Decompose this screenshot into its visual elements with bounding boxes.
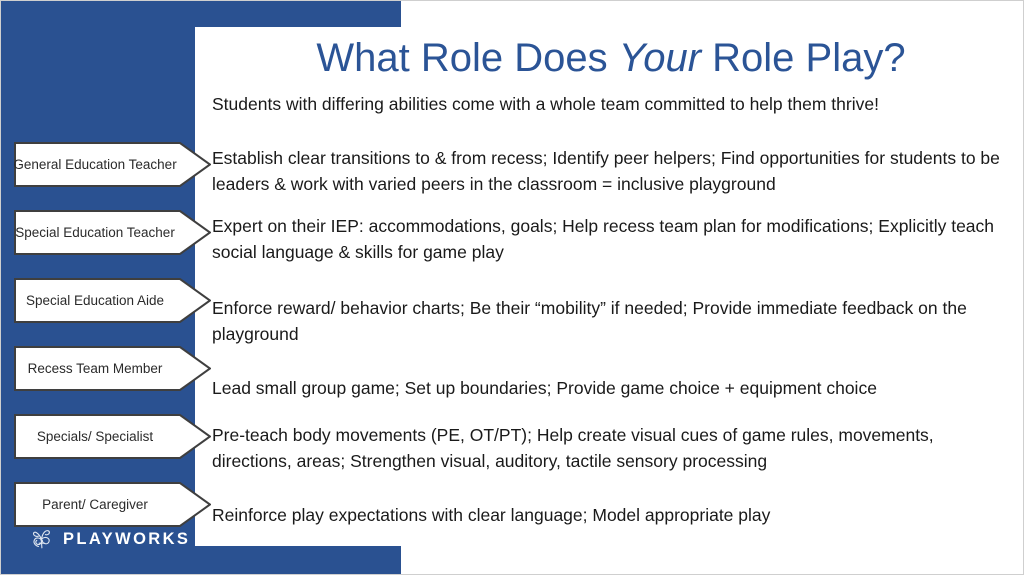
playworks-wordmark: PLAYWORKS [63, 530, 190, 548]
role-description-0: Establish clear transitions to & from re… [212, 145, 1002, 197]
role-description-2: Enforce reward/ behavior charts; Be thei… [212, 295, 1002, 347]
role-arrow-general-education-teacher[interactable]: General Education Teacher [14, 142, 211, 187]
role-description-5: Reinforce play expectations with clear l… [212, 502, 1002, 528]
intro-text: Students with differing abilities come w… [212, 92, 1012, 117]
role-arrow-label-0: General Education Teacher [14, 142, 176, 187]
role-arrow-label-5: Parent/ Caregiver [14, 482, 176, 527]
role-description-4: Pre-teach body movements (PE, OT/PT); He… [212, 422, 1002, 474]
role-arrow-label-3: Recess Team Member [14, 346, 176, 391]
role-arrow-label-4: Specials/ Specialist [14, 414, 176, 459]
role-description-1: Expert on their IEP: accommodations, goa… [212, 213, 1002, 265]
role-arrow-label-1: Special Education Teacher [14, 210, 176, 255]
role-arrow-parent-caregiver[interactable]: Parent/ Caregiver [14, 482, 211, 527]
playworks-monogram-icon [29, 526, 55, 552]
role-arrow-specials-specialist[interactable]: Specials/ Specialist [14, 414, 211, 459]
role-arrow-special-education-teacher[interactable]: Special Education Teacher [14, 210, 211, 255]
slide-canvas: What Role Does Your Role Play? Students … [0, 0, 1024, 575]
page-title: What Role Does Your Role Play? [201, 34, 1021, 82]
title-part-after: Role Play? [701, 36, 906, 80]
role-arrow-recess-team-member[interactable]: Recess Team Member [14, 346, 211, 391]
title-part-before: What Role Does [316, 36, 618, 80]
role-description-3: Lead small group game; Set up boundaries… [212, 375, 1002, 401]
role-arrow-label-2: Special Education Aide [14, 278, 176, 323]
playworks-logo: PLAYWORKS [29, 525, 190, 553]
title-part-emphasis: Your [619, 36, 701, 80]
role-arrow-special-education-aide[interactable]: Special Education Aide [14, 278, 211, 323]
